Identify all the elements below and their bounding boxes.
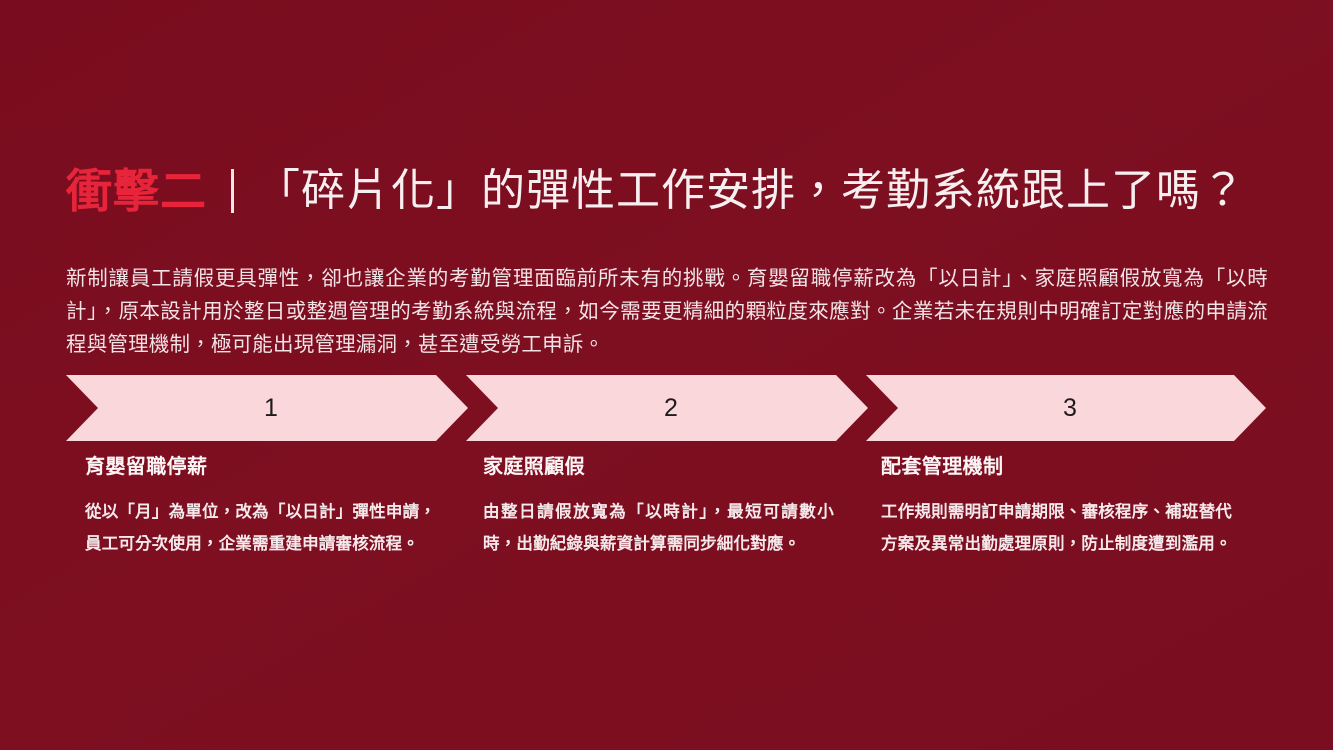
chevron-band: 1 2 3 [66,375,1266,441]
step-heading: 配套管理機制 [881,455,1232,479]
step-body: 工作規則需明訂申請期限、審核程序、補班替代方案及異常出勤處理原則，防止制度遭到濫… [881,497,1232,560]
slide-canvas: 衝擊二 「碎片化」的彈性工作安排，考勤系統跟上了嗎？ 新制讓員工請假更具彈性，卻… [0,0,1333,750]
page-title: 衝擊二 「碎片化」的彈性工作安排，考勤系統跟上了嗎？ [66,168,1246,214]
chevron-step-1: 1 [66,375,468,441]
step-columns: 育嬰留職停薪 從以「月」為單位，改為「以日計」彈性申請，員工可分次使用，企業需重… [66,455,1268,560]
title-divider [231,169,234,213]
step-column-1: 育嬰留職停薪 從以「月」為單位，改為「以日計」彈性申請，員工可分次使用，企業需重… [66,455,464,560]
chevron-step-3: 3 [866,375,1266,441]
chevron-number: 2 [664,396,678,421]
title-accent-text: 衝擊二 [66,168,207,214]
step-body: 由整日請假放寬為「以時計」，最短可請數小時，出勤紀錄與薪資計算需同步細化對應。 [483,497,834,560]
title-main-text: 「碎片化」的彈性工作安排，考勤系統跟上了嗎？ [256,169,1246,213]
chevron-number: 1 [264,396,278,421]
step-heading: 育嬰留職停薪 [85,455,436,479]
step-column-3: 配套管理機制 工作規則需明訂申請期限、審核程序、補班替代方案及異常出勤處理原則，… [862,455,1260,560]
intro-paragraph: 新制讓員工請假更具彈性，卻也讓企業的考勤管理面臨前所未有的挑戰。育嬰留職停薪改為… [66,262,1268,362]
chevron-step-2: 2 [466,375,868,441]
step-heading: 家庭照顧假 [483,455,834,479]
step-column-2: 家庭照顧假 由整日請假放寬為「以時計」，最短可請數小時，出勤紀錄與薪資計算需同步… [464,455,862,560]
step-body: 從以「月」為單位，改為「以日計」彈性申請，員工可分次使用，企業需重建申請審核流程… [85,497,436,560]
chevron-number: 3 [1063,396,1077,421]
